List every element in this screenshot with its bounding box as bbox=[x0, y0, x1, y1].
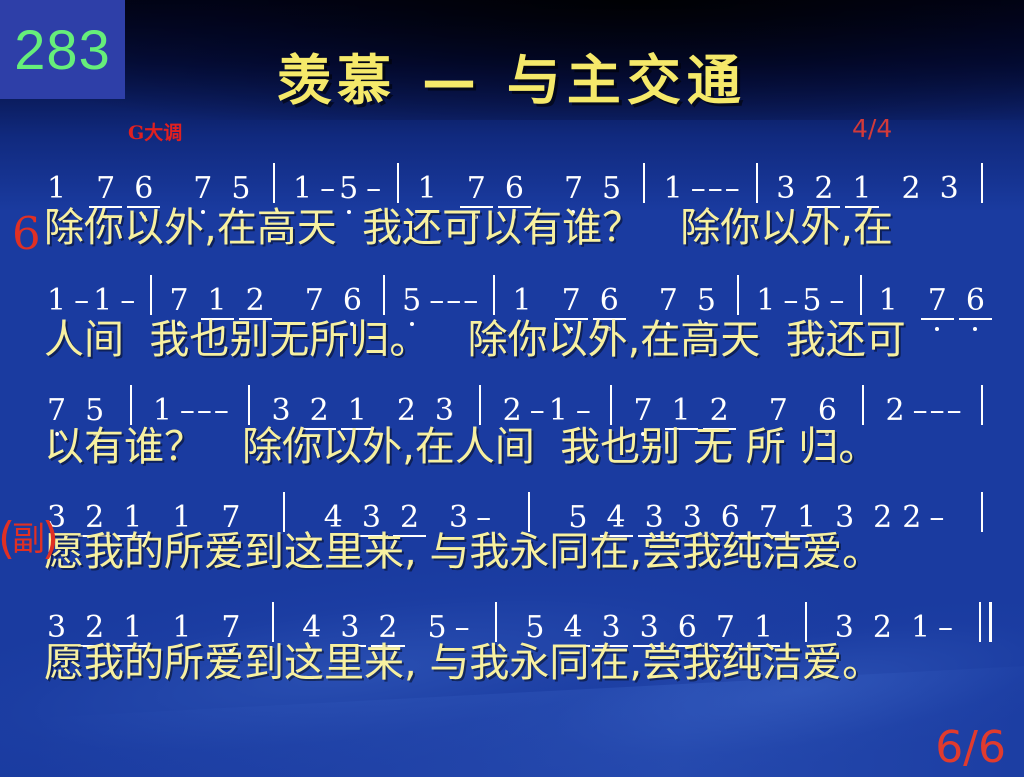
note-digit: 7 bbox=[302, 286, 327, 316]
note-digit: 7 bbox=[44, 396, 69, 426]
page-indicator: 6/6 bbox=[935, 722, 1006, 773]
note-digit: 7 bbox=[464, 174, 489, 204]
measure: 2––– bbox=[883, 396, 963, 426]
time-signature: 4/4 bbox=[852, 114, 892, 143]
note-digit: 3 bbox=[432, 396, 457, 426]
measure: 176 bbox=[876, 286, 992, 316]
note-digit: 1 bbox=[290, 174, 315, 204]
measure: 75 bbox=[44, 396, 111, 426]
measure: 4325– bbox=[299, 613, 470, 643]
verse-number-marker: 6 bbox=[12, 207, 41, 260]
measure: 71276 bbox=[166, 286, 368, 316]
note-sustain-dash: – bbox=[445, 286, 462, 316]
note-digit: 1 bbox=[150, 396, 175, 426]
notation-system-3: 751–––321232–1–712762––– bbox=[44, 380, 992, 426]
barline-end bbox=[981, 163, 983, 203]
note-digit: 6 bbox=[815, 396, 840, 426]
barline-end bbox=[981, 385, 983, 425]
note-digit: 1 bbox=[345, 396, 370, 426]
note-digit: 2 bbox=[82, 613, 107, 643]
note-digit: 1 bbox=[669, 396, 694, 426]
barline bbox=[756, 163, 758, 203]
measure: 321– bbox=[832, 613, 954, 643]
note-digit: 2 bbox=[307, 396, 332, 426]
note-sustain-dash: – bbox=[462, 286, 479, 316]
note-digit: 5 bbox=[336, 174, 361, 204]
note-digit: 2 bbox=[883, 396, 908, 426]
note-sustain-dash: – bbox=[454, 613, 471, 643]
barline bbox=[283, 492, 285, 532]
measure: 17675 bbox=[510, 286, 723, 316]
note-digit: 6 bbox=[597, 286, 622, 316]
note-sustain-dash: – bbox=[119, 286, 136, 316]
barline bbox=[643, 163, 645, 203]
note-sustain-dash: – bbox=[428, 286, 445, 316]
lyrics-line-2: 人间 我也别无所归。 除你以外,在高天 我还可 bbox=[44, 320, 1004, 360]
measure: 1–5– bbox=[290, 174, 382, 204]
barline bbox=[860, 275, 862, 315]
barline bbox=[248, 385, 250, 425]
note-sustain-dash: – bbox=[929, 396, 946, 426]
notation-system-4: 321174323–5433671322– bbox=[44, 487, 992, 533]
measure: 1–1– bbox=[44, 286, 136, 316]
key-signature: G大调 bbox=[128, 118, 182, 145]
note-digit: 6 bbox=[131, 174, 156, 204]
note-digit: 2 bbox=[899, 174, 924, 204]
note-digit: 1 bbox=[44, 286, 69, 316]
chorus-marker: 副 bbox=[2, 522, 55, 555]
note-sustain-dash: – bbox=[529, 396, 546, 426]
note-sustain-dash: – bbox=[213, 396, 230, 426]
note-digit: 2 bbox=[500, 396, 525, 426]
barline bbox=[383, 275, 385, 315]
measure: 1–5– bbox=[753, 286, 845, 316]
note-sustain-dash: – bbox=[946, 396, 963, 426]
note-digit: 3 bbox=[773, 174, 798, 204]
measure: 71276 bbox=[630, 396, 843, 426]
barline bbox=[479, 385, 481, 425]
barline bbox=[495, 602, 497, 642]
lyrics-line-1: 除你以外,在高天 我还可以有谁？ 除你以外,在 bbox=[44, 208, 1004, 248]
note-digit: 7 bbox=[218, 613, 243, 643]
barline bbox=[737, 275, 739, 315]
note-digit: 1 bbox=[169, 613, 194, 643]
note-digit: 5 bbox=[522, 613, 547, 643]
note-digit: 1 bbox=[661, 174, 686, 204]
barline bbox=[528, 492, 530, 532]
lyrics-line-4: 愿我的所爱到这里来, 与我永同在,尝我纯洁爱。 bbox=[44, 532, 1004, 572]
note-sustain-dash: – bbox=[196, 396, 213, 426]
note-digit: 6 bbox=[963, 286, 988, 316]
notation-system-2: 1–1–712765–––176751–5–176 bbox=[44, 270, 992, 316]
note-digit: 6 bbox=[340, 286, 365, 316]
note-sustain-dash: – bbox=[828, 286, 845, 316]
note-digit: 7 bbox=[925, 286, 950, 316]
note-digit: 3 bbox=[337, 613, 362, 643]
note-digit: 5 bbox=[799, 286, 824, 316]
note-digit: 7 bbox=[630, 396, 655, 426]
note-digit: 7 bbox=[559, 286, 584, 316]
measure: 5––– bbox=[399, 286, 479, 316]
measure: 1––– bbox=[150, 396, 230, 426]
note-digit: 6 bbox=[675, 613, 700, 643]
note-sustain-dash: – bbox=[937, 613, 954, 643]
note-digit: 2 bbox=[243, 286, 268, 316]
note-digit: 2 bbox=[394, 396, 419, 426]
note-digit: 2 bbox=[375, 613, 400, 643]
note-digit: 5 bbox=[399, 286, 424, 316]
note-digit: 2 bbox=[870, 613, 895, 643]
note-digit: 5 bbox=[599, 174, 624, 204]
note-sustain-dash: – bbox=[928, 503, 945, 533]
note-digit: 1 bbox=[120, 613, 145, 643]
note-digit: 3 bbox=[832, 613, 857, 643]
note-digit: 1 bbox=[510, 286, 535, 316]
note-digit: 7 bbox=[166, 286, 191, 316]
measure: 5433671 bbox=[522, 613, 780, 643]
note-sustain-dash: – bbox=[73, 286, 90, 316]
chorus-marker-label: 副 bbox=[2, 522, 55, 555]
note-digit: 7 bbox=[766, 396, 791, 426]
note-sustain-dash: – bbox=[707, 174, 724, 204]
note-digit: 5 bbox=[228, 174, 253, 204]
note-digit: 7 bbox=[713, 613, 738, 643]
note-digit: 1 bbox=[44, 174, 69, 204]
note-digit: 3 bbox=[937, 174, 962, 204]
note-digit: 3 bbox=[637, 613, 662, 643]
note-digit: 7 bbox=[93, 174, 118, 204]
barline bbox=[397, 163, 399, 203]
note-digit: 4 bbox=[299, 613, 324, 643]
note-digit: 7 bbox=[561, 174, 586, 204]
measure: 2–1– bbox=[500, 396, 592, 426]
note-sustain-dash: – bbox=[575, 396, 592, 426]
note-sustain-dash: – bbox=[912, 396, 929, 426]
note-sustain-dash: – bbox=[319, 174, 336, 204]
barline bbox=[862, 385, 864, 425]
note-sustain-dash: – bbox=[690, 174, 707, 204]
note-digit: 1 bbox=[876, 286, 901, 316]
page-title: 羡慕 — 与主交通 bbox=[0, 36, 1024, 115]
note-digit: 2 bbox=[811, 174, 836, 204]
measure: 1––– bbox=[661, 174, 741, 204]
note-digit: 5 bbox=[694, 286, 719, 316]
measure: 32117 bbox=[44, 613, 247, 643]
barline bbox=[150, 275, 152, 315]
barline bbox=[272, 602, 274, 642]
note-digit: 2 bbox=[707, 396, 732, 426]
lyrics-line-3: 以有谁？ 除你以外,在人间 我也别 无 所 归。 bbox=[44, 427, 1004, 467]
hymn-slide: 283 羡慕 — 与主交通 G大调 4/4 6 副 6/6 176751–5–1… bbox=[0, 0, 1024, 777]
notation-system-5: 321174325–5433671321– bbox=[44, 597, 992, 643]
note-sustain-dash: – bbox=[724, 174, 741, 204]
note-sustain-dash: – bbox=[365, 174, 382, 204]
lyrics-line-5: 愿我的所爱到这里来, 与我永同在,尝我纯洁爱。 bbox=[44, 643, 1004, 683]
measure: 32123 bbox=[773, 174, 965, 204]
note-digit: 3 bbox=[44, 613, 69, 643]
note-digit: 7 bbox=[190, 174, 215, 204]
barline bbox=[805, 602, 807, 642]
barline bbox=[130, 385, 132, 425]
note-digit: 1 bbox=[849, 174, 874, 204]
note-digit: 1 bbox=[751, 613, 776, 643]
note-digit: 3 bbox=[269, 396, 294, 426]
notation-system-1: 176751–5–176751–––32123 bbox=[44, 158, 992, 204]
note-digit: 1 bbox=[205, 286, 230, 316]
note-digit: 1 bbox=[546, 396, 571, 426]
note-digit: 3 bbox=[599, 613, 624, 643]
note-digit: 7 bbox=[656, 286, 681, 316]
note-digit: 4 bbox=[560, 613, 585, 643]
measure: 17675 bbox=[44, 174, 257, 204]
measure: 32123 bbox=[269, 396, 461, 426]
barline bbox=[610, 385, 612, 425]
note-digit: 6 bbox=[502, 174, 527, 204]
note-digit: 5 bbox=[82, 396, 107, 426]
note-digit: 1 bbox=[90, 286, 115, 316]
note-sustain-dash: – bbox=[179, 396, 196, 426]
note-digit: 2 bbox=[899, 503, 924, 533]
measure: 17675 bbox=[415, 174, 628, 204]
note-sustain-dash: – bbox=[782, 286, 799, 316]
barline-end bbox=[981, 492, 983, 532]
note-digit: 1 bbox=[753, 286, 778, 316]
note-digit: 5 bbox=[425, 613, 450, 643]
barline bbox=[493, 275, 495, 315]
note-digit: 1 bbox=[415, 174, 440, 204]
barline bbox=[273, 163, 275, 203]
barline-final bbox=[979, 602, 992, 642]
note-digit: 1 bbox=[908, 613, 933, 643]
